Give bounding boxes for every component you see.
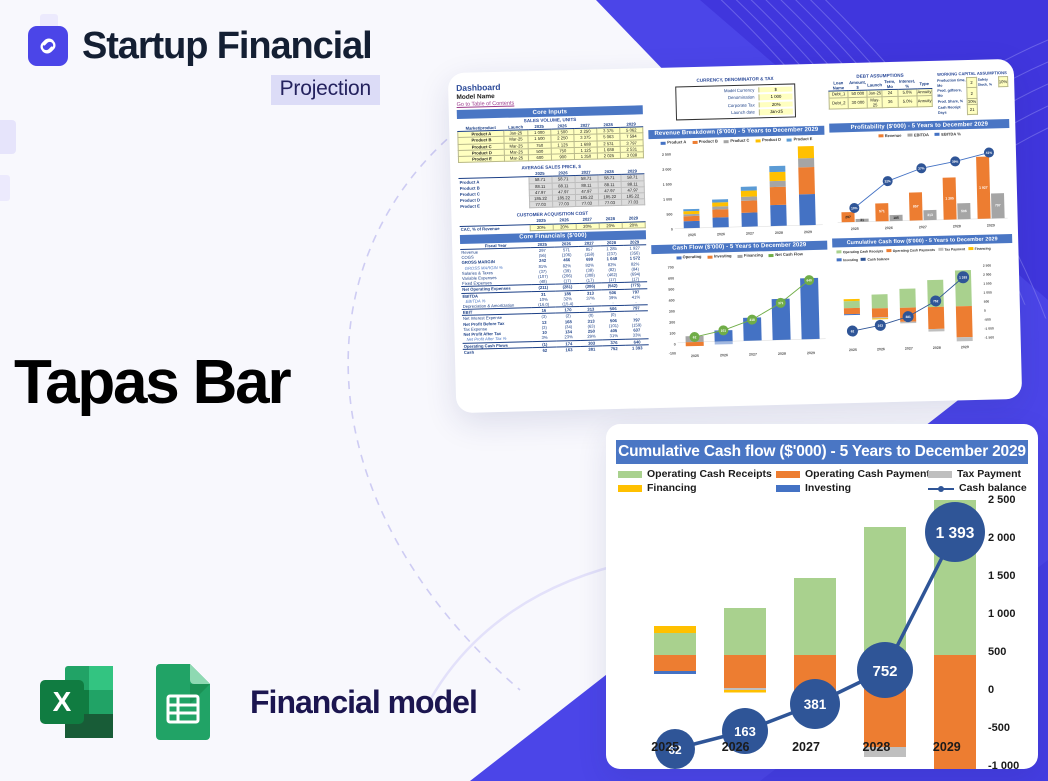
svg-text:37%: 37% [918, 167, 925, 171]
svg-text:506: 506 [961, 210, 967, 214]
svg-text:X: X [53, 686, 72, 717]
svg-text:1 285: 1 285 [945, 197, 954, 201]
revenue-breakdown-chart: 2 5002 0001 500 1 0005000 202520 [649, 142, 827, 242]
svg-text:2028: 2028 [775, 230, 783, 234]
svg-text:2026: 2026 [717, 232, 725, 236]
svg-text:31: 31 [860, 218, 864, 222]
legend-label: Investing [805, 482, 851, 494]
format-badges: X Financial model [32, 660, 477, 744]
legend-label: Investing [714, 253, 732, 258]
cumulative-cash-flow-card[interactable]: Cumulative Cash flow ($'000) - 5 Years t… [606, 424, 1038, 769]
x-tick: 2029 [912, 740, 982, 754]
cumulative-cash-flow-chart-mini: 2 5002 0001 500 1 0005000 -500-1 000-1 5… [833, 259, 1015, 356]
svg-text:-1 500: -1 500 [985, 336, 995, 340]
svg-text:1 000: 1 000 [983, 291, 992, 295]
y-tick: 2 500 [988, 494, 1016, 506]
legend-label: Revenue [885, 133, 902, 138]
avg-price-table: 2025 2026 2027 2028 2029 Product A58.715… [458, 168, 645, 210]
svg-text:2026: 2026 [720, 353, 728, 357]
brand-e-mark-icon [28, 26, 68, 66]
legend-swatch [776, 485, 800, 492]
svg-text:200: 200 [669, 320, 675, 324]
legend-label: Tax Payment [944, 247, 965, 252]
dashboard-middle-column: CURRENCY, DENOMINATOR & TAX Model Curren… [647, 74, 830, 362]
legend-label: Financing [744, 252, 763, 257]
svg-text:381: 381 [905, 315, 911, 319]
svg-text:371: 371 [778, 301, 784, 305]
svg-text:0: 0 [671, 227, 673, 231]
legend-item-operating-cash-receipts: Operating Cash Receipts [618, 468, 776, 480]
svg-text:2029: 2029 [804, 230, 812, 234]
legend-label: EBITDA [914, 132, 929, 137]
legend-label: Product C [730, 138, 749, 143]
legend-item-investing: Investing [776, 482, 928, 494]
legend-line-marker-icon [928, 485, 954, 492]
page-title: Tapas Bar [14, 352, 289, 414]
y-axis-labels: 2 500 2 000 1 500 1 000 500 0 -500 -1 00… [978, 500, 1034, 736]
legend-item-operating-cash-payments: Operating Cash Payments [776, 468, 928, 480]
table-row: Cash Receipt Days21 [937, 104, 1009, 116]
x-tick: 2027 [771, 740, 841, 754]
y-tick: -1 000 [988, 760, 1019, 769]
svg-text:700: 700 [668, 265, 674, 269]
svg-text:2 000: 2 000 [662, 167, 671, 171]
x-tick: 2028 [841, 740, 911, 754]
svg-text:2 500: 2 500 [983, 264, 992, 268]
svg-text:1 000: 1 000 [663, 197, 672, 201]
svg-text:1 393: 1 393 [936, 525, 975, 542]
bg-square-b [0, 175, 10, 201]
chart-legend: Operating Cash Receipts Operating Cash P… [618, 468, 1026, 494]
legend-label: Operating Cash Receipts [647, 468, 772, 480]
svg-text:1 927: 1 927 [979, 186, 988, 190]
chart-title: Cumulative Cash flow ($'000) - 5 Years t… [616, 440, 1028, 464]
svg-text:-1 000: -1 000 [984, 327, 994, 331]
svg-text:163: 163 [878, 324, 884, 328]
svg-text:2025: 2025 [851, 227, 859, 231]
svg-text:857: 857 [913, 205, 919, 209]
svg-text:2026: 2026 [877, 348, 885, 352]
y-tick: 2 000 [988, 532, 1016, 544]
x-axis-labels: 2025 2026 2027 2028 2029 [630, 740, 982, 754]
svg-text:752: 752 [872, 663, 897, 680]
legend-label: EBITDA % [941, 131, 961, 136]
svg-text:500: 500 [984, 300, 990, 304]
svg-text:2028: 2028 [933, 346, 941, 350]
svg-text:297: 297 [845, 215, 851, 219]
poster-canvas: Startup Financial Projection Tapas Bar X [0, 0, 1048, 781]
legend-label: Operating Cash Payments [805, 468, 936, 480]
core-financials-table: Fiscal Year 2025 2026 2027 2028 2029 Rev… [460, 239, 649, 355]
svg-text:300: 300 [669, 309, 675, 313]
legend-label: Product D [762, 137, 781, 142]
brand-title: Startup Financial [82, 27, 372, 65]
legend-swatch [618, 485, 642, 492]
legend-item-cash-balance: Cash balance [928, 482, 1027, 494]
svg-text:500: 500 [668, 287, 674, 291]
svg-text:218: 218 [749, 317, 755, 321]
wc-assumptions-table: Production time, Mo2Safety Stock, %10% P… [936, 76, 1009, 116]
svg-text:313: 313 [927, 213, 933, 217]
svg-text:2028: 2028 [778, 351, 786, 355]
brand-subtitle: Projection [271, 75, 380, 105]
currency-block-header: CURRENCY, DENOMINATOR & TAX [647, 74, 823, 85]
svg-text:2029: 2029 [987, 224, 995, 228]
svg-text:640: 640 [806, 278, 812, 282]
svg-text:101: 101 [721, 328, 727, 332]
legend-label: Operating Cash Payments [893, 248, 935, 253]
cash-flow-chart: 700600500 400300200 1000-100 [652, 257, 830, 361]
svg-text:2027: 2027 [746, 231, 754, 235]
svg-text:2027: 2027 [919, 226, 927, 230]
currency-block-table: Model Currency$ Denomination1 000 Corpor… [675, 83, 796, 120]
svg-text:2028: 2028 [953, 225, 961, 229]
y-tick: 1 000 [988, 608, 1016, 620]
svg-text:62: 62 [851, 330, 855, 334]
legend-label: Tax Payment [957, 468, 1021, 480]
legend-label: Financing [975, 246, 991, 250]
svg-text:39%: 39% [952, 160, 959, 164]
legend-label: Cash balance [867, 257, 889, 262]
bar-group-2025 [654, 626, 696, 674]
svg-text:2027: 2027 [905, 347, 913, 351]
debt-assumptions-table: Loan Name Amount, $ Launch Term, Mo Inte… [828, 78, 933, 110]
svg-text:400: 400 [669, 298, 675, 302]
legend-label: Operating [682, 254, 701, 259]
svg-text:571: 571 [879, 210, 885, 214]
bar-group-2026 [724, 608, 766, 693]
svg-text:1 500: 1 500 [983, 282, 992, 286]
svg-text:0: 0 [984, 309, 986, 313]
svg-text:2029: 2029 [961, 346, 969, 350]
legend-label: Product B [699, 139, 718, 144]
svg-text:2025: 2025 [849, 348, 857, 352]
legend-label: Investing [843, 258, 858, 262]
legend-swatch [776, 471, 800, 478]
svg-text:752: 752 [933, 300, 939, 304]
dashboard-right-column: DEBT ASSUMPTIONS Loan Name Amount, $ Lau… [828, 69, 1015, 357]
svg-text:32%: 32% [884, 180, 891, 184]
table-row: Launch dateJan-25 [679, 109, 793, 117]
svg-text:797: 797 [995, 204, 1001, 208]
legend-label: Product E [793, 136, 812, 141]
svg-text:2025: 2025 [691, 354, 699, 358]
dashboard-left-column: Dashboard Model Name Go to Table of Cont… [456, 78, 649, 366]
svg-text:0: 0 [674, 342, 676, 346]
svg-text:10%: 10% [851, 207, 858, 211]
dashboard-screenshot-card[interactable]: Dashboard Model Name Go to Table of Cont… [448, 59, 1022, 413]
legend-item-tax-payment: Tax Payment [928, 468, 1027, 480]
svg-text:1 393: 1 393 [959, 276, 967, 280]
x-tick: 2026 [700, 740, 770, 754]
legend-label: Financing [647, 482, 697, 494]
badge-label: Financial model [250, 684, 477, 721]
svg-text:600: 600 [668, 276, 674, 280]
legend-item-financing: Financing [618, 482, 776, 494]
y-tick: 500 [988, 646, 1006, 658]
legend-swatch [928, 471, 952, 478]
chart-svg: 62 163 381 752 1 393 [606, 500, 1038, 769]
legend-swatch [618, 471, 642, 478]
svg-text:-100: -100 [669, 351, 676, 355]
svg-text:381: 381 [804, 697, 827, 712]
profitability-chart: 29731 571185 857313 1 285506 1 927797 [830, 136, 1012, 237]
microsoft-excel-icon: X [32, 660, 124, 744]
table-row: Debt_230 000May-25365.0%Annuity [829, 95, 932, 109]
svg-text:2027: 2027 [749, 352, 757, 356]
svg-text:2029: 2029 [807, 351, 815, 355]
svg-text:2026: 2026 [885, 226, 893, 230]
svg-text:163: 163 [734, 724, 756, 739]
svg-text:2025: 2025 [688, 233, 696, 237]
svg-text:2 000: 2 000 [983, 273, 992, 277]
legend-label: Product A [667, 139, 686, 144]
svg-text:500: 500 [666, 212, 672, 216]
y-tick: 0 [988, 684, 994, 696]
x-tick: 2025 [630, 740, 700, 754]
chart-plot-area: 62 163 381 752 1 393 2 500 2 000 1 500 1… [606, 500, 1038, 769]
legend-label: Operating Cash Receipts [843, 249, 883, 254]
legend-label: Cash balance [959, 482, 1027, 494]
bg-square-a [0, 120, 16, 154]
brand-lockup: Startup Financial Projection [28, 26, 380, 105]
svg-text:2 500: 2 500 [662, 152, 671, 156]
svg-text:1 500: 1 500 [663, 182, 672, 186]
svg-text:62: 62 [693, 335, 697, 339]
legend-label: Net Cash Flow [775, 251, 803, 257]
google-sheets-icon [148, 660, 220, 744]
svg-text:-500: -500 [984, 318, 991, 322]
sales-volume-table: Market/product Launch 2025 2026 2027 202… [457, 121, 644, 163]
svg-text:41%: 41% [986, 151, 993, 155]
y-tick: 1 500 [988, 570, 1016, 582]
svg-text:185: 185 [893, 216, 899, 220]
svg-text:100: 100 [669, 331, 675, 335]
y-tick: -500 [988, 722, 1010, 734]
